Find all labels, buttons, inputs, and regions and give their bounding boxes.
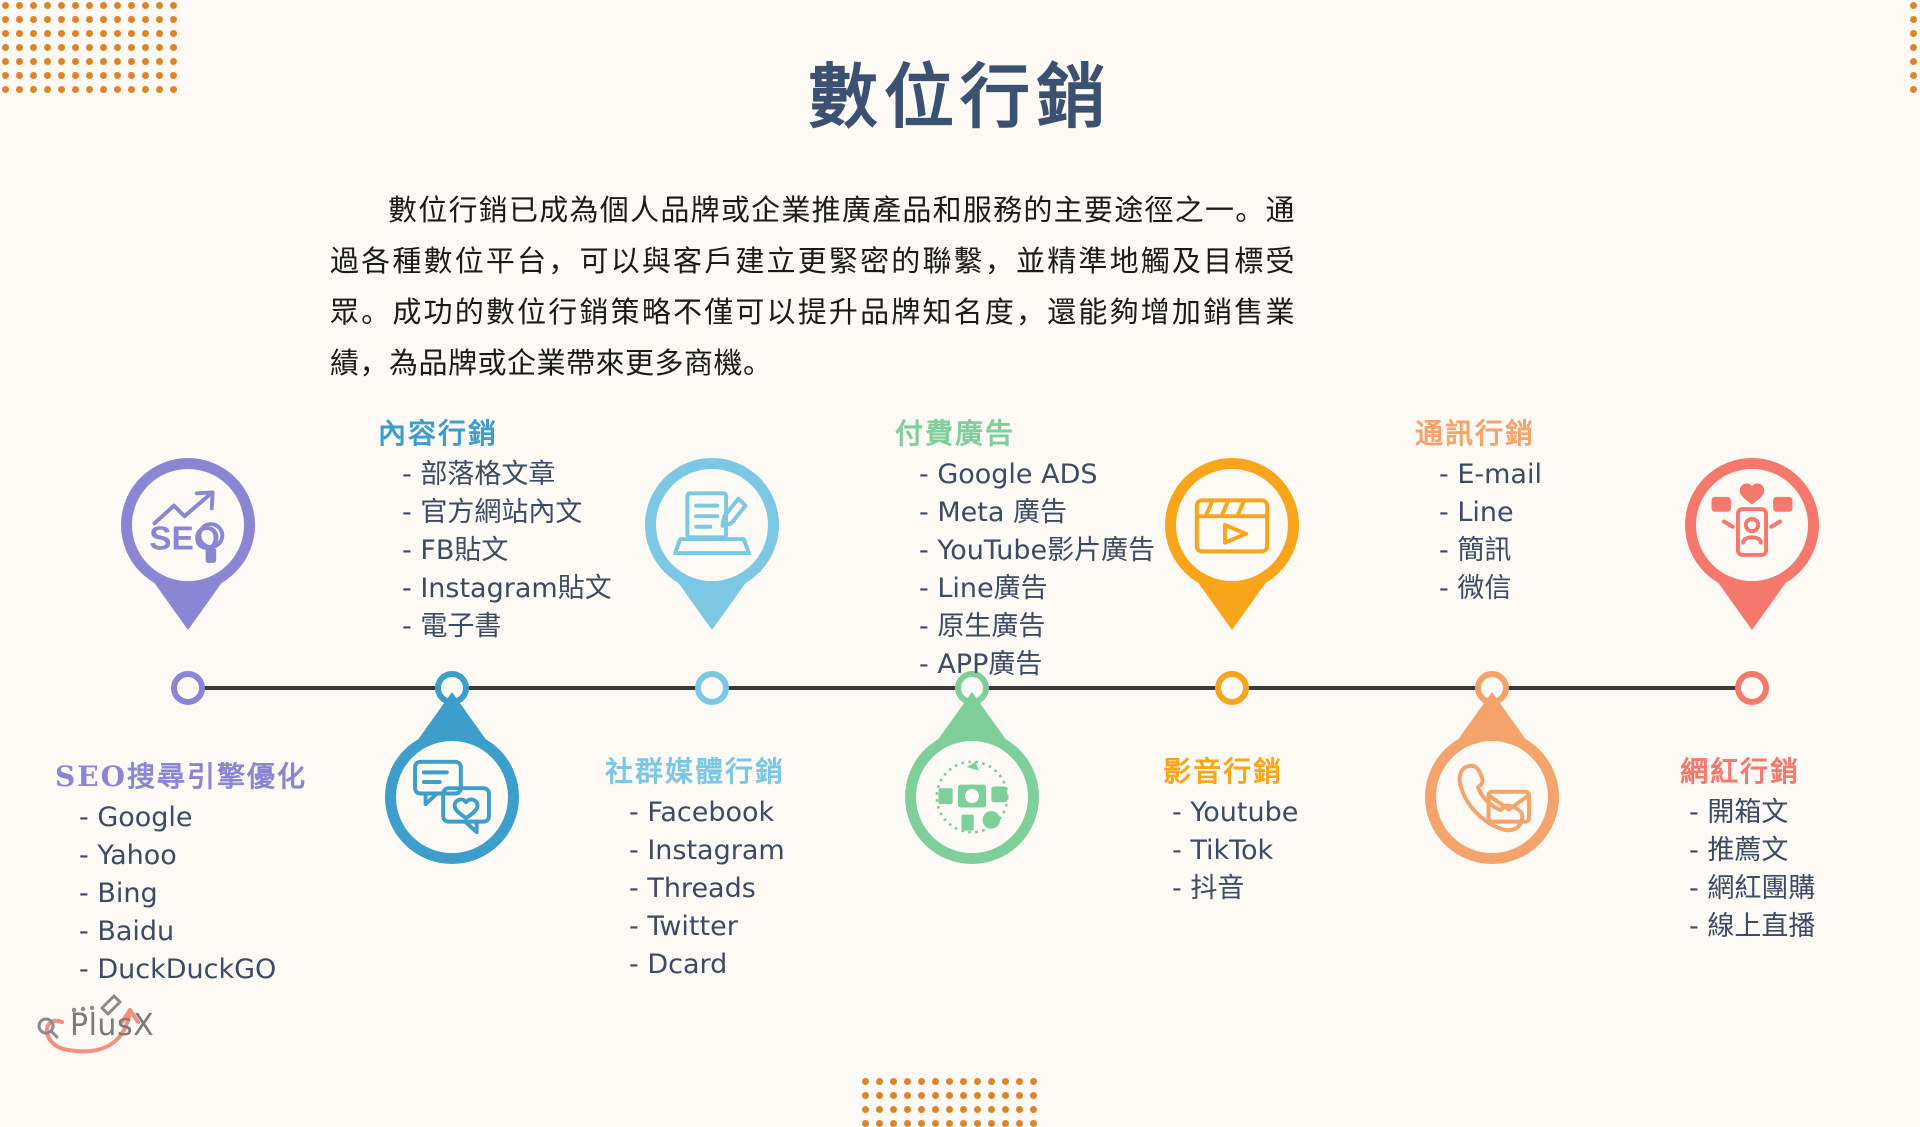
list-item: Line廣告 — [919, 570, 1155, 608]
decor-dot — [156, 30, 163, 37]
decor-dot — [960, 1092, 967, 1099]
section-social: 社群媒體行銷FacebookInstagramThreadsTwitterDca… — [605, 750, 785, 984]
decor-dot — [1002, 1120, 1009, 1127]
decor-dot — [960, 1106, 967, 1113]
decor-dot — [30, 16, 37, 23]
section-list-content: 部落格文章官方網站內文FB貼文Instagram貼文電子書 — [378, 456, 612, 646]
decor-dot — [876, 1106, 883, 1113]
list-item: Line — [1439, 494, 1542, 532]
list-item: 官方網站內文 — [402, 494, 612, 532]
decor-dot — [58, 30, 65, 37]
decor-dot — [946, 1106, 953, 1113]
decor-dot — [862, 1120, 869, 1127]
plusx-logo: PlusX — [22, 988, 162, 1060]
decor-dot — [170, 16, 177, 23]
list-item: Google ADS — [919, 456, 1155, 494]
decor-dot — [30, 30, 37, 37]
decor-dot — [58, 16, 65, 23]
list-item: Meta 廣告 — [919, 494, 1155, 532]
section-list-seo: GoogleYahooBingBaiduDuckDuckGO — [55, 799, 307, 989]
section-messaging: 通訊行銷E-mailLine簡訊微信 — [1415, 412, 1542, 608]
decor-dot — [1030, 1078, 1037, 1085]
section-paidads: 付費廣告Google ADSMeta 廣告YouTube影片廣告Line廣告原生… — [895, 412, 1155, 684]
decor-dot — [100, 44, 107, 51]
decor-dot — [128, 2, 135, 9]
decor-dot — [128, 16, 135, 23]
list-item: 推薦文 — [1689, 832, 1815, 870]
decor-dot — [890, 1078, 897, 1085]
decor-dot — [904, 1078, 911, 1085]
decor-dot — [156, 16, 163, 23]
section-title-influencer: 網紅行銷 — [1665, 750, 1815, 790]
decor-dot — [988, 1106, 995, 1113]
section-title-seo: SEO搜尋引擎優化 — [55, 755, 307, 795]
list-item: YouTube影片廣告 — [919, 532, 1155, 570]
plusx-logo-text: PlusX — [70, 1008, 154, 1043]
decor-dot — [86, 30, 93, 37]
decor-dot — [890, 1106, 897, 1113]
laptop-document-icon — [645, 458, 779, 592]
decor-dot — [890, 1120, 897, 1127]
list-item: Instagram貼文 — [402, 570, 612, 608]
map-pin-video[interactable] — [1165, 458, 1299, 592]
decor-dot — [16, 44, 23, 51]
decor-dot — [918, 1092, 925, 1099]
map-pin-influencer[interactable] — [1685, 458, 1819, 592]
decor-dot — [862, 1078, 869, 1085]
decor-dot — [86, 2, 93, 9]
section-title-video: 影音行銷 — [1148, 750, 1298, 790]
decor-dot — [44, 30, 51, 37]
list-item: 開箱文 — [1689, 794, 1815, 832]
decor-dot — [2, 2, 9, 9]
timeline-node-video[interactable] — [1215, 671, 1249, 705]
list-item: APP廣告 — [919, 646, 1155, 684]
decor-dot — [72, 2, 79, 9]
decor-dot — [932, 1120, 939, 1127]
list-item: 原生廣告 — [919, 608, 1155, 646]
decor-dot — [156, 44, 163, 51]
section-list-influencer: 開箱文推薦文網紅團購線上直播 — [1665, 794, 1815, 946]
list-item: E-mail — [1439, 456, 1542, 494]
map-pin-social[interactable] — [645, 458, 779, 592]
decor-dot — [974, 1092, 981, 1099]
list-item: 微信 — [1439, 570, 1542, 608]
decor-dot — [1002, 1078, 1009, 1085]
decor-dot — [960, 1078, 967, 1085]
decor-dot — [128, 44, 135, 51]
decor-dot — [100, 30, 107, 37]
decor-dot — [988, 1092, 995, 1099]
section-list-paidads: Google ADSMeta 廣告YouTube影片廣告Line廣告原生廣告AP… — [895, 456, 1155, 684]
decor-dot — [86, 44, 93, 51]
decor-dot — [1910, 30, 1917, 37]
list-item: Yahoo — [79, 837, 307, 875]
decor-dot — [72, 16, 79, 23]
decor-dot — [2, 44, 9, 51]
list-item: Baidu — [79, 913, 307, 951]
decor-dot — [44, 44, 51, 51]
decor-dot — [16, 16, 23, 23]
seo-chart-icon: SEO — [121, 458, 255, 592]
decor-dot — [156, 2, 163, 9]
decor-dot — [890, 1092, 897, 1099]
decor-dot — [44, 2, 51, 9]
timeline-node-influencer[interactable] — [1735, 671, 1769, 705]
list-item: Youtube — [1172, 794, 1298, 832]
list-item: Twitter — [629, 908, 785, 946]
decor-dot — [946, 1078, 953, 1085]
decor-dot — [114, 44, 121, 51]
infographic-canvas: 數位行銷 數位行銷已成為個人品牌或企業推廣產品和服務的主要途徑之一。通過各種數位… — [0, 0, 1920, 1080]
decor-dot — [904, 1120, 911, 1127]
decor-dot — [16, 2, 23, 9]
timeline-node-seo[interactable] — [171, 671, 205, 705]
page-title: 數位行銷 — [0, 62, 1920, 132]
decor-dot — [876, 1078, 883, 1085]
decor-dot — [114, 30, 121, 37]
decor-dot — [1030, 1106, 1037, 1113]
decor-dot — [114, 2, 121, 9]
list-item: 網紅團購 — [1689, 870, 1815, 908]
decor-dot — [170, 30, 177, 37]
decor-dot — [932, 1106, 939, 1113]
map-pin-messaging[interactable] — [1425, 730, 1559, 864]
decor-dot — [1030, 1120, 1037, 1127]
decor-dot — [988, 1120, 995, 1127]
decor-dot — [170, 44, 177, 51]
decor-dot — [16, 30, 23, 37]
section-title-messaging: 通訊行銷 — [1415, 412, 1542, 452]
list-item: 簡訊 — [1439, 532, 1542, 570]
list-item: Threads — [629, 870, 785, 908]
timeline-node-social[interactable] — [695, 671, 729, 705]
decor-dot — [72, 30, 79, 37]
decor-dot — [1910, 16, 1917, 23]
decor-dot — [862, 1106, 869, 1113]
decor-dot — [170, 2, 177, 9]
decor-dot — [1002, 1092, 1009, 1099]
decor-dot — [142, 44, 149, 51]
decor-dot — [1016, 1078, 1023, 1085]
list-item: 電子書 — [402, 608, 612, 646]
decor-dot — [114, 16, 121, 23]
list-item: Facebook — [629, 794, 785, 832]
decor-dot — [1910, 44, 1917, 51]
decor-dot — [58, 44, 65, 51]
decor-dot — [918, 1120, 925, 1127]
decor-dot — [100, 16, 107, 23]
decor-dot — [128, 30, 135, 37]
decor-dot — [932, 1078, 939, 1085]
decor-dot — [44, 16, 51, 23]
section-title-content: 內容行銷 — [378, 412, 612, 452]
list-item: 線上直播 — [1689, 908, 1815, 946]
speech-heart-icon — [905, 730, 1039, 864]
intro-paragraph: 數位行銷已成為個人品牌或企業推廣產品和服務的主要途徑之一。通過各種數位平台，可以… — [330, 185, 1295, 389]
list-item: Dcard — [629, 946, 785, 984]
section-list-social: FacebookInstagramThreadsTwitterDcard — [605, 794, 785, 984]
list-item: Instagram — [629, 832, 785, 870]
list-item: Bing — [79, 875, 307, 913]
list-item: Google — [79, 799, 307, 837]
decor-dot — [142, 2, 149, 9]
map-pin-content[interactable] — [385, 730, 519, 864]
decor-dot — [142, 30, 149, 37]
list-item: FB貼文 — [402, 532, 612, 570]
decor-dot — [100, 2, 107, 9]
decor-dot — [1016, 1106, 1023, 1113]
decor-dot — [918, 1106, 925, 1113]
decor-dot — [974, 1078, 981, 1085]
list-item: TikTok — [1172, 832, 1298, 870]
decor-dot — [2, 30, 9, 37]
decor-dot — [946, 1092, 953, 1099]
decor-dot — [1030, 1092, 1037, 1099]
section-content: 內容行銷部落格文章官方網站內文FB貼文Instagram貼文電子書 — [378, 412, 612, 646]
decor-dot — [974, 1106, 981, 1113]
map-pin-paidads[interactable] — [905, 730, 1039, 864]
phone-email-icon — [1425, 730, 1559, 864]
decor-dot — [2, 16, 9, 23]
section-video: 影音行銷YoutubeTikTok抖音 — [1148, 750, 1298, 908]
decor-dot — [904, 1092, 911, 1099]
decor-dot — [1002, 1106, 1009, 1113]
decor-dot — [30, 2, 37, 9]
decor-dot — [918, 1078, 925, 1085]
decor-dot — [988, 1078, 995, 1085]
section-list-video: YoutubeTikTok抖音 — [1148, 794, 1298, 908]
decor-dot — [1016, 1120, 1023, 1127]
map-pin-seo[interactable]: SEO — [121, 458, 255, 592]
section-influencer: 網紅行銷開箱文推薦文網紅團購線上直播 — [1665, 750, 1815, 946]
list-item: 部落格文章 — [402, 456, 612, 494]
decor-dot — [142, 16, 149, 23]
section-title-paidads: 付費廣告 — [895, 412, 1155, 452]
section-seo: SEO搜尋引擎優化GoogleYahooBingBaiduDuckDuckGO — [55, 755, 307, 989]
decor-dot — [1016, 1092, 1023, 1099]
video-play-icon — [1165, 458, 1299, 592]
section-title-social: 社群媒體行銷 — [605, 750, 785, 790]
decor-dot — [876, 1092, 883, 1099]
section-list-messaging: E-mailLine簡訊微信 — [1415, 456, 1542, 608]
list-item: DuckDuckGO — [79, 951, 307, 989]
decor-dot — [932, 1092, 939, 1099]
decor-dot — [960, 1120, 967, 1127]
decor-dot — [58, 2, 65, 9]
decor-dot — [974, 1120, 981, 1127]
decor-dot — [862, 1092, 869, 1099]
decor-dot — [946, 1120, 953, 1127]
list-item: 抖音 — [1172, 870, 1298, 908]
decor-dot — [86, 16, 93, 23]
mobile-review-icon — [1685, 458, 1819, 592]
decor-dot — [904, 1106, 911, 1113]
decor-dot — [72, 44, 79, 51]
decor-dot — [30, 44, 37, 51]
decor-dot — [1910, 2, 1917, 9]
decor-dot — [876, 1120, 883, 1127]
chat-bubbles-icon — [385, 730, 519, 864]
